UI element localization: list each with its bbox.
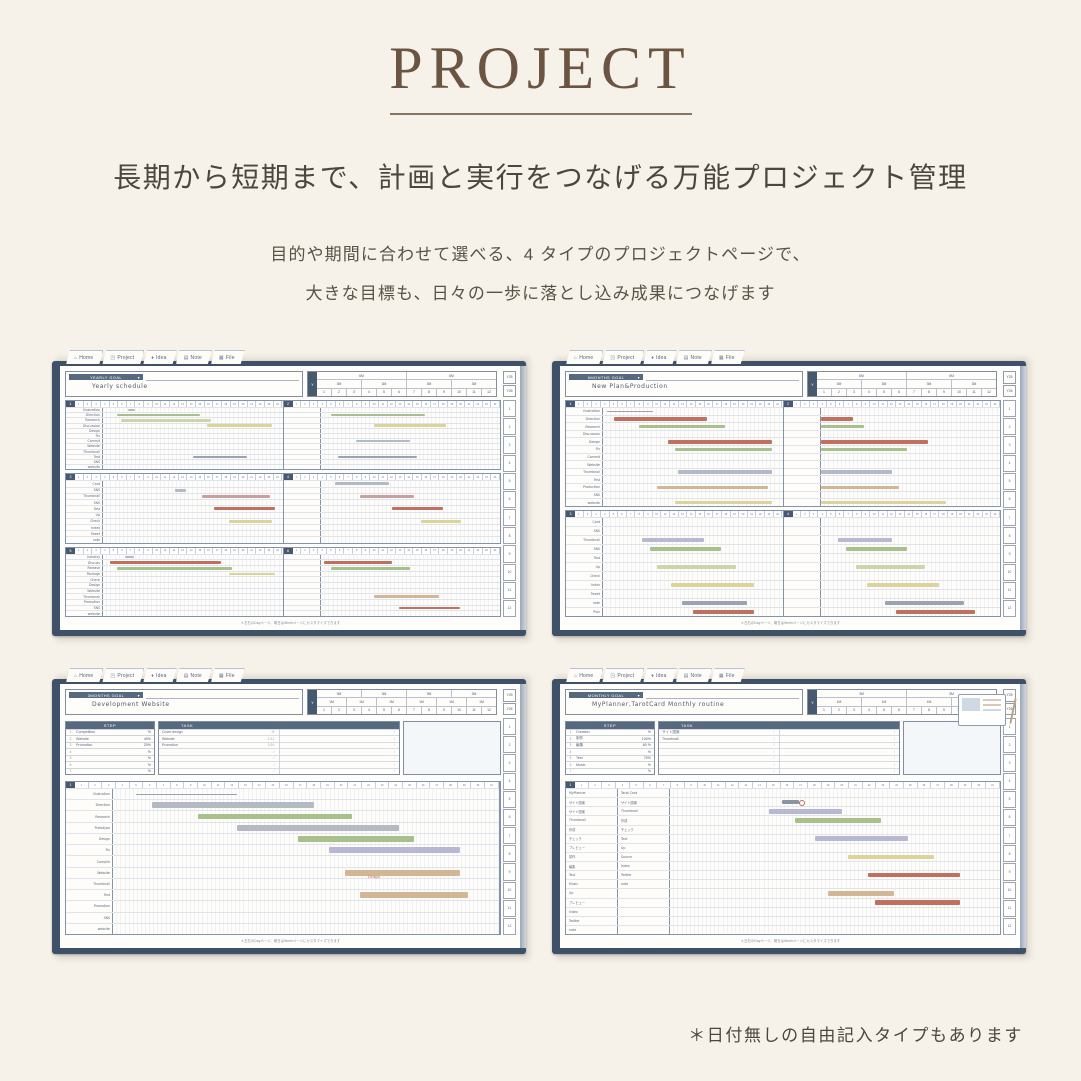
gantt-track[interactable] bbox=[113, 856, 499, 866]
month-rail-cell[interactable]: 7 bbox=[1003, 509, 1016, 526]
gantt-track[interactable] bbox=[321, 525, 501, 530]
gantt-bar[interactable] bbox=[815, 836, 907, 841]
gantt-track[interactable] bbox=[821, 554, 1001, 562]
year-side-cell[interactable]: Y26 bbox=[1003, 385, 1016, 398]
task-row[interactable]: / bbox=[159, 768, 279, 775]
scale-month-cell[interactable]: 3 bbox=[847, 707, 862, 714]
gantt-bar[interactable] bbox=[214, 507, 275, 510]
tab-file[interactable]: ▦File bbox=[711, 350, 745, 364]
scale-month-cell[interactable]: 11 bbox=[967, 389, 982, 396]
gantt-track[interactable] bbox=[821, 590, 1001, 598]
scale-month-cell[interactable]: 1 bbox=[817, 707, 832, 714]
gantt-track[interactable] bbox=[603, 536, 783, 544]
year-side-cell[interactable]: Y25 bbox=[1003, 371, 1016, 384]
month-rail-cell[interactable]: 10 bbox=[1003, 564, 1016, 581]
gantt-track[interactable] bbox=[321, 455, 501, 459]
gantt-track[interactable] bbox=[670, 826, 1000, 834]
gantt-track[interactable] bbox=[821, 408, 1001, 415]
gantt-track[interactable] bbox=[321, 513, 501, 518]
month-rail-cell[interactable]: 6 bbox=[1003, 809, 1016, 826]
scale-month-cell[interactable]: 3 bbox=[847, 389, 862, 396]
gantt-bar[interactable] bbox=[399, 607, 460, 610]
gantt-track[interactable] bbox=[113, 913, 499, 923]
gantt-track[interactable] bbox=[603, 431, 783, 438]
month-rail-cell[interactable]: 12 bbox=[1003, 600, 1016, 617]
gantt-track[interactable] bbox=[321, 450, 501, 454]
gantt-track[interactable] bbox=[821, 545, 1001, 553]
gantt-bar[interactable] bbox=[838, 538, 892, 542]
gantt-track[interactable] bbox=[821, 536, 1001, 544]
gantt-track[interactable] bbox=[113, 868, 499, 878]
gantt-track[interactable] bbox=[321, 577, 501, 582]
gantt-track[interactable] bbox=[103, 418, 283, 422]
gantt-track[interactable] bbox=[321, 494, 501, 499]
gantt-track[interactable] bbox=[321, 519, 501, 524]
scale-month-cell[interactable]: 8 bbox=[922, 389, 937, 396]
scale-month-cell[interactable]: 7 bbox=[907, 389, 922, 396]
gantt-bar[interactable] bbox=[202, 495, 270, 498]
gantt-track[interactable] bbox=[821, 469, 1001, 476]
month-rail-cell[interactable]: 6 bbox=[1003, 491, 1016, 508]
month-rail-cell[interactable]: 2 bbox=[1003, 418, 1016, 435]
gantt-track[interactable] bbox=[821, 572, 1001, 580]
gantt-bar[interactable] bbox=[896, 610, 975, 614]
gantt-track[interactable] bbox=[603, 446, 783, 453]
gantt-track[interactable] bbox=[670, 844, 1000, 852]
gantt-track[interactable] bbox=[603, 499, 783, 506]
gantt-track[interactable] bbox=[603, 590, 783, 598]
gantt-track[interactable] bbox=[670, 798, 1000, 806]
tab-note[interactable]: ▤Note bbox=[176, 668, 212, 682]
month-rail-cell[interactable]: 2 bbox=[503, 418, 516, 435]
tab-idea[interactable]: ♦Idea bbox=[143, 350, 176, 364]
gantt-track[interactable] bbox=[321, 560, 501, 565]
scale-month-cell[interactable]: 2 bbox=[832, 707, 847, 714]
gantt-track[interactable] bbox=[103, 560, 283, 565]
gantt-bar[interactable] bbox=[345, 870, 461, 876]
gantt-bar[interactable] bbox=[110, 561, 221, 564]
gantt-track[interactable] bbox=[603, 416, 783, 423]
gantt-track[interactable] bbox=[821, 461, 1001, 468]
gantt-bar[interactable] bbox=[338, 456, 417, 458]
month-rail-cell[interactable]: 3 bbox=[1003, 436, 1016, 453]
gantt-bar[interactable] bbox=[875, 900, 961, 905]
gantt-track[interactable] bbox=[113, 890, 499, 900]
month-rail-cell[interactable]: 6 bbox=[503, 809, 516, 826]
gantt-track[interactable] bbox=[103, 594, 283, 599]
gantt-track[interactable] bbox=[321, 434, 501, 438]
month-rail-cell[interactable]: 1 bbox=[503, 400, 516, 417]
month-rail-cell[interactable]: 8 bbox=[503, 845, 516, 862]
tab-note[interactable]: ▤Note bbox=[676, 350, 712, 364]
scale-month-cell[interactable]: 2 bbox=[332, 707, 347, 714]
year-side-cell[interactable]: Y25 bbox=[503, 689, 516, 702]
scale-month-cell[interactable]: 12 bbox=[982, 389, 996, 396]
month-rail-cell[interactable]: 8 bbox=[503, 527, 516, 544]
gantt-track[interactable] bbox=[603, 438, 783, 445]
year-side-cell[interactable]: Y26 bbox=[503, 385, 516, 398]
month-rail-cell[interactable]: 2 bbox=[503, 736, 516, 753]
gantt-track[interactable] bbox=[603, 454, 783, 461]
gantt-bar[interactable] bbox=[374, 595, 439, 598]
month-rail-cell[interactable]: 4 bbox=[1003, 773, 1016, 790]
gantt-bar[interactable] bbox=[650, 547, 722, 551]
gantt-track[interactable] bbox=[670, 908, 1000, 916]
gantt-track[interactable] bbox=[103, 555, 283, 560]
gantt-track[interactable] bbox=[113, 789, 499, 799]
tab-home[interactable]: ⌂Home bbox=[566, 350, 603, 364]
month-rail-cell[interactable]: 7 bbox=[503, 509, 516, 526]
scale-month-cell[interactable]: 5 bbox=[877, 707, 892, 714]
gantt-track[interactable] bbox=[321, 566, 501, 571]
gantt-bar[interactable] bbox=[821, 486, 900, 490]
month-rail-cell[interactable]: 6 bbox=[503, 491, 516, 508]
gantt-track[interactable] bbox=[321, 439, 501, 443]
gantt-bar[interactable] bbox=[846, 547, 907, 551]
gantt-track[interactable] bbox=[821, 581, 1001, 589]
gantt-track[interactable] bbox=[113, 834, 499, 844]
scale-month-cell[interactable]: 8 bbox=[922, 707, 937, 714]
gantt-track[interactable] bbox=[603, 572, 783, 580]
task-row[interactable]: / bbox=[280, 768, 400, 775]
month-rail-cell[interactable]: 5 bbox=[503, 473, 516, 490]
month-rail-cell[interactable]: 5 bbox=[503, 791, 516, 808]
gantt-track[interactable] bbox=[821, 563, 1001, 571]
gantt-track[interactable] bbox=[321, 444, 501, 448]
month-rail-cell[interactable]: 7 bbox=[503, 827, 516, 844]
tab-file[interactable]: ▦File bbox=[211, 350, 245, 364]
gantt-track[interactable] bbox=[321, 600, 501, 605]
scale-month-cell[interactable]: 2 bbox=[832, 389, 847, 396]
gantt-track[interactable] bbox=[103, 513, 283, 518]
gantt-track[interactable] bbox=[321, 572, 501, 577]
month-rail-cell[interactable]: 8 bbox=[1003, 527, 1016, 544]
gantt-track[interactable] bbox=[321, 531, 501, 536]
month-rail-cell[interactable]: 2 bbox=[1003, 736, 1016, 753]
scale-month-cell[interactable]: 6 bbox=[892, 707, 907, 714]
gantt-track[interactable] bbox=[603, 608, 783, 616]
gantt-track[interactable] bbox=[670, 899, 1000, 907]
gantt-track[interactable] bbox=[113, 811, 499, 821]
gantt-bar[interactable] bbox=[795, 818, 881, 823]
gantt-bar[interactable] bbox=[125, 556, 134, 559]
month-rail-cell[interactable]: 4 bbox=[1003, 455, 1016, 472]
month-rail-cell[interactable]: 1 bbox=[503, 718, 516, 735]
gantt-track[interactable] bbox=[821, 608, 1001, 616]
gantt-track[interactable] bbox=[103, 611, 283, 616]
gantt-bar[interactable] bbox=[207, 424, 272, 426]
gantt-bar[interactable] bbox=[821, 448, 907, 452]
gantt-track[interactable] bbox=[103, 460, 283, 464]
scale-month-cell[interactable]: 10 bbox=[452, 389, 467, 396]
gantt-track[interactable] bbox=[103, 566, 283, 571]
gantt-track[interactable] bbox=[321, 500, 501, 505]
tab-home[interactable]: ⌂Home bbox=[66, 350, 103, 364]
gantt-track[interactable] bbox=[103, 506, 283, 511]
gantt-bar[interactable] bbox=[642, 538, 703, 542]
gantt-track[interactable] bbox=[103, 572, 283, 577]
gantt-track[interactable] bbox=[821, 492, 1001, 499]
gantt-track[interactable] bbox=[103, 488, 283, 493]
task-row[interactable]: / bbox=[780, 768, 900, 775]
gantt-track[interactable] bbox=[603, 545, 783, 553]
scale-month-cell[interactable]: 6 bbox=[392, 707, 407, 714]
gantt-bar[interactable] bbox=[821, 440, 929, 444]
scale-month-cell[interactable]: 11 bbox=[467, 389, 482, 396]
gantt-track[interactable] bbox=[603, 492, 783, 499]
gantt-bar[interactable] bbox=[193, 456, 247, 458]
tab-idea[interactable]: ♦Idea bbox=[143, 668, 176, 682]
month-rail-cell[interactable]: 4 bbox=[503, 773, 516, 790]
gantt-bar[interactable] bbox=[128, 409, 135, 411]
gantt-track[interactable] bbox=[670, 862, 1000, 870]
gantt-bar[interactable] bbox=[639, 425, 725, 429]
gantt-bar[interactable] bbox=[782, 800, 799, 805]
step-row[interactable]: 7% bbox=[66, 768, 154, 775]
gantt-track[interactable] bbox=[103, 465, 283, 469]
gantt-track[interactable] bbox=[113, 823, 499, 833]
gantt-track[interactable] bbox=[603, 408, 783, 415]
scale-month-cell[interactable]: 11 bbox=[467, 707, 482, 714]
gantt-bar[interactable] bbox=[229, 573, 276, 576]
gantt-track[interactable] bbox=[321, 429, 501, 433]
task-row[interactable]: / bbox=[659, 768, 779, 775]
gantt-bar[interactable] bbox=[769, 809, 842, 814]
gantt-track[interactable] bbox=[103, 606, 283, 611]
gantt-bar[interactable] bbox=[392, 507, 442, 510]
gantt-track[interactable] bbox=[103, 577, 283, 582]
gantt-track[interactable] bbox=[670, 807, 1000, 815]
gantt-track[interactable] bbox=[103, 444, 283, 448]
tab-idea[interactable]: ♦Idea bbox=[643, 350, 676, 364]
month-rail-cell[interactable]: 4 bbox=[503, 455, 516, 472]
scale-month-cell[interactable]: 4 bbox=[362, 707, 377, 714]
scale-month-cell[interactable]: 9 bbox=[437, 707, 452, 714]
gantt-bar[interactable] bbox=[360, 892, 468, 898]
scale-month-cell[interactable]: 8 bbox=[422, 707, 437, 714]
scale-month-cell[interactable]: 1 bbox=[317, 707, 332, 714]
gantt-track[interactable] bbox=[103, 531, 283, 536]
scale-month-cell[interactable]: 10 bbox=[452, 707, 467, 714]
gantt-bar[interactable] bbox=[421, 520, 460, 523]
scale-month-cell[interactable]: 4 bbox=[862, 389, 877, 396]
tab-project[interactable]: ◳Project bbox=[102, 668, 144, 682]
gantt-track[interactable] bbox=[603, 599, 783, 607]
gantt-track[interactable] bbox=[670, 889, 1000, 897]
gantt-track[interactable] bbox=[821, 423, 1001, 430]
gantt-track[interactable] bbox=[103, 450, 283, 454]
gantt-bar[interactable] bbox=[675, 448, 772, 452]
month-rail-cell[interactable]: 11 bbox=[1003, 582, 1016, 599]
gantt-track[interactable] bbox=[113, 879, 499, 889]
gantt-bar[interactable] bbox=[374, 424, 446, 426]
gantt-bar[interactable] bbox=[821, 417, 853, 421]
tab-note[interactable]: ▤Note bbox=[676, 668, 712, 682]
month-rail-cell[interactable]: 8 bbox=[1003, 845, 1016, 862]
gantt-bar[interactable] bbox=[678, 470, 771, 474]
gantt-track[interactable] bbox=[321, 589, 501, 594]
scale-month-cell[interactable]: 10 bbox=[952, 389, 967, 396]
month-rail-cell[interactable]: 9 bbox=[503, 863, 516, 880]
scale-month-cell[interactable]: 6 bbox=[892, 389, 907, 396]
gantt-bar[interactable] bbox=[668, 440, 772, 444]
gantt-track[interactable] bbox=[103, 413, 283, 417]
gantt-bar[interactable] bbox=[360, 495, 414, 498]
month-rail-cell[interactable]: 9 bbox=[1003, 545, 1016, 562]
scale-month-cell[interactable]: 3 bbox=[347, 707, 362, 714]
goal-text[interactable]: Yearly schedule bbox=[92, 383, 148, 390]
gantt-bar[interactable] bbox=[821, 501, 947, 505]
gantt-track[interactable] bbox=[603, 461, 783, 468]
gantt-bar[interactable] bbox=[868, 873, 960, 878]
gantt-track[interactable] bbox=[670, 880, 1000, 888]
scale-month-cell[interactable]: 12 bbox=[482, 389, 496, 396]
gantt-track[interactable] bbox=[103, 494, 283, 499]
gantt-track[interactable] bbox=[321, 537, 501, 542]
scale-month-cell[interactable]: 4 bbox=[362, 389, 377, 396]
scale-month-cell[interactable]: 12 bbox=[482, 707, 496, 714]
scale-month-cell[interactable]: 4 bbox=[862, 707, 877, 714]
month-rail-cell[interactable]: 9 bbox=[1003, 863, 1016, 880]
gantt-bar[interactable] bbox=[324, 561, 392, 564]
goal-text[interactable]: MyPlanner,TarotCard Monthly routine bbox=[592, 701, 724, 708]
gantt-bar[interactable] bbox=[657, 565, 736, 569]
gantt-track[interactable] bbox=[321, 424, 501, 428]
month-rail-cell[interactable]: 1 bbox=[1003, 400, 1016, 417]
gantt-bar[interactable] bbox=[821, 425, 864, 429]
tab-note[interactable]: ▤Note bbox=[176, 350, 212, 364]
gantt-bar[interactable] bbox=[229, 520, 272, 523]
gantt-bar[interactable] bbox=[828, 891, 894, 896]
gantt-track[interactable] bbox=[113, 924, 499, 934]
gantt-track[interactable] bbox=[321, 555, 501, 560]
gantt-bar[interactable] bbox=[298, 836, 414, 842]
gantt-track[interactable] bbox=[321, 413, 501, 417]
gantt-bar[interactable] bbox=[821, 470, 893, 474]
gantt-track[interactable] bbox=[103, 434, 283, 438]
step-row[interactable]: 7% bbox=[566, 768, 654, 775]
month-rail-cell[interactable]: 10 bbox=[503, 882, 516, 899]
month-rail-cell[interactable]: 9 bbox=[503, 545, 516, 562]
gantt-track[interactable] bbox=[670, 871, 1000, 879]
scale-month-cell[interactable]: 9 bbox=[937, 707, 952, 714]
gantt-bar[interactable] bbox=[329, 847, 460, 853]
gantt-bar[interactable] bbox=[614, 417, 707, 421]
gantt-track[interactable] bbox=[603, 518, 783, 526]
gantt-track[interactable] bbox=[821, 446, 1001, 453]
scale-month-cell[interactable]: 9 bbox=[437, 389, 452, 396]
gantt-track[interactable] bbox=[103, 429, 283, 433]
gantt-track[interactable] bbox=[603, 423, 783, 430]
gantt-track[interactable] bbox=[103, 537, 283, 542]
gantt-track[interactable] bbox=[321, 465, 501, 469]
month-rail-cell[interactable]: 11 bbox=[503, 900, 516, 917]
gantt-bar[interactable] bbox=[607, 411, 654, 412]
scale-month-cell[interactable]: 7 bbox=[407, 707, 422, 714]
month-rail-cell[interactable]: 10 bbox=[503, 564, 516, 581]
gantt-track[interactable] bbox=[113, 901, 499, 911]
gantt-bar[interactable] bbox=[117, 567, 232, 570]
gantt-bar[interactable] bbox=[335, 482, 389, 485]
scale-month-cell[interactable]: 5 bbox=[377, 389, 392, 396]
gantt-track[interactable] bbox=[113, 845, 499, 855]
gantt-track[interactable] bbox=[103, 600, 283, 605]
tab-project[interactable]: ◳Project bbox=[602, 350, 644, 364]
gantt-track[interactable] bbox=[821, 518, 1001, 526]
month-rail-cell[interactable]: 10 bbox=[1003, 882, 1016, 899]
gantt-track[interactable] bbox=[821, 527, 1001, 535]
gantt-bar[interactable] bbox=[657, 486, 768, 490]
gantt-track[interactable] bbox=[821, 438, 1001, 445]
gantt-bar[interactable] bbox=[848, 855, 934, 860]
gantt-track[interactable] bbox=[321, 506, 501, 511]
gantt-track[interactable] bbox=[603, 581, 783, 589]
gantt-track[interactable] bbox=[103, 424, 283, 428]
gantt-bar[interactable] bbox=[121, 419, 211, 421]
month-rail-cell[interactable]: 11 bbox=[503, 582, 516, 599]
gantt-bar[interactable] bbox=[136, 794, 236, 795]
gantt-track[interactable] bbox=[321, 408, 501, 412]
scale-month-cell[interactable]: 6 bbox=[392, 389, 407, 396]
gantt-track[interactable] bbox=[603, 563, 783, 571]
month-rail-cell[interactable]: 11 bbox=[1003, 900, 1016, 917]
tab-home[interactable]: ⌂Home bbox=[66, 668, 103, 682]
gantt-bar[interactable] bbox=[152, 802, 314, 808]
gantt-track[interactable] bbox=[821, 431, 1001, 438]
tab-project[interactable]: ◳Project bbox=[602, 668, 644, 682]
gantt-track[interactable] bbox=[821, 476, 1001, 483]
gantt-track[interactable] bbox=[670, 853, 1000, 861]
scale-month-cell[interactable]: 1 bbox=[317, 389, 332, 396]
gantt-track[interactable] bbox=[103, 519, 283, 524]
gantt-track[interactable] bbox=[603, 476, 783, 483]
gantt-track[interactable] bbox=[670, 926, 1000, 934]
month-rail-cell[interactable]: 5 bbox=[1003, 473, 1016, 490]
gantt-bar[interactable] bbox=[682, 601, 747, 605]
month-rail-cell[interactable]: 12 bbox=[503, 600, 516, 617]
gantt-track[interactable] bbox=[821, 499, 1001, 506]
scale-month-cell[interactable]: 8 bbox=[422, 389, 437, 396]
gantt-track[interactable] bbox=[103, 525, 283, 530]
gantt-track[interactable] bbox=[103, 455, 283, 459]
month-rail-cell[interactable]: 12 bbox=[503, 918, 516, 935]
gantt-track[interactable] bbox=[603, 527, 783, 535]
gantt-track[interactable] bbox=[321, 606, 501, 611]
gantt-bar[interactable] bbox=[331, 414, 424, 416]
scale-month-cell[interactable]: 5 bbox=[877, 389, 892, 396]
gantt-track[interactable] bbox=[321, 418, 501, 422]
month-rail-cell[interactable]: 12 bbox=[1003, 918, 1016, 935]
tab-file[interactable]: ▦File bbox=[211, 668, 245, 682]
gantt-bar[interactable] bbox=[675, 501, 772, 505]
gantt-track[interactable] bbox=[670, 789, 1000, 797]
gantt-track[interactable] bbox=[103, 481, 283, 486]
gantt-bar[interactable] bbox=[885, 601, 964, 605]
gantt-track[interactable] bbox=[103, 583, 283, 588]
scale-month-cell[interactable]: 5 bbox=[377, 707, 392, 714]
month-rail-cell[interactable]: 3 bbox=[503, 436, 516, 453]
gantt-bar[interactable] bbox=[237, 825, 399, 831]
gantt-bar[interactable] bbox=[331, 567, 410, 570]
gantt-track[interactable] bbox=[103, 408, 283, 412]
goal-text[interactable]: New Plan&Production bbox=[592, 383, 668, 390]
year-side-cell[interactable]: Y26 bbox=[503, 703, 516, 716]
gantt-track[interactable] bbox=[321, 611, 501, 616]
gantt-track[interactable] bbox=[670, 835, 1000, 843]
gantt-bar[interactable] bbox=[693, 610, 754, 614]
gantt-bar[interactable] bbox=[117, 414, 200, 416]
gantt-track[interactable] bbox=[821, 416, 1001, 423]
